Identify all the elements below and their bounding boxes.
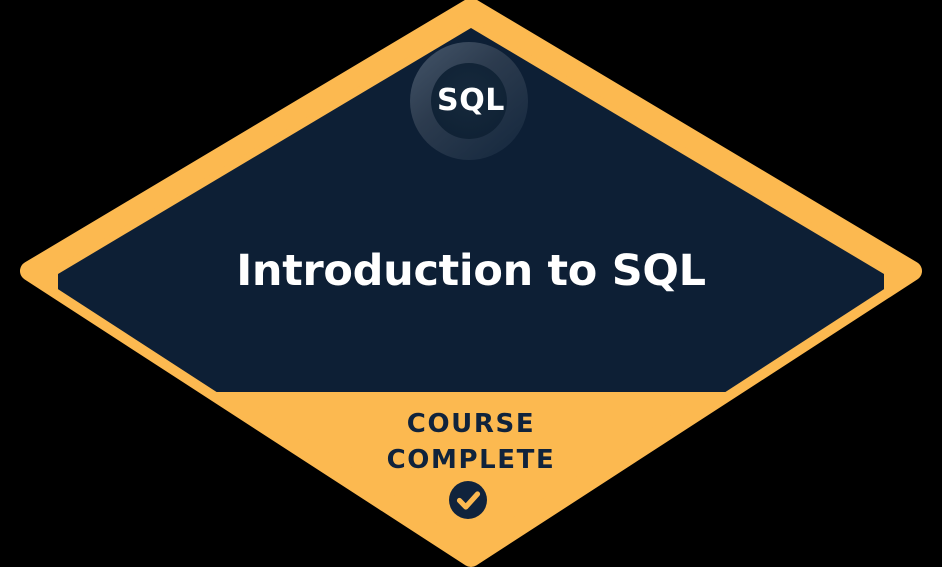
check-circle-icon bbox=[449, 481, 487, 519]
sql-ring-badge bbox=[410, 42, 528, 160]
badge-stage: SQL Introduction to SQL COURSE COMPLETE bbox=[0, 0, 942, 567]
course-badge-graphic[interactable] bbox=[0, 0, 942, 567]
